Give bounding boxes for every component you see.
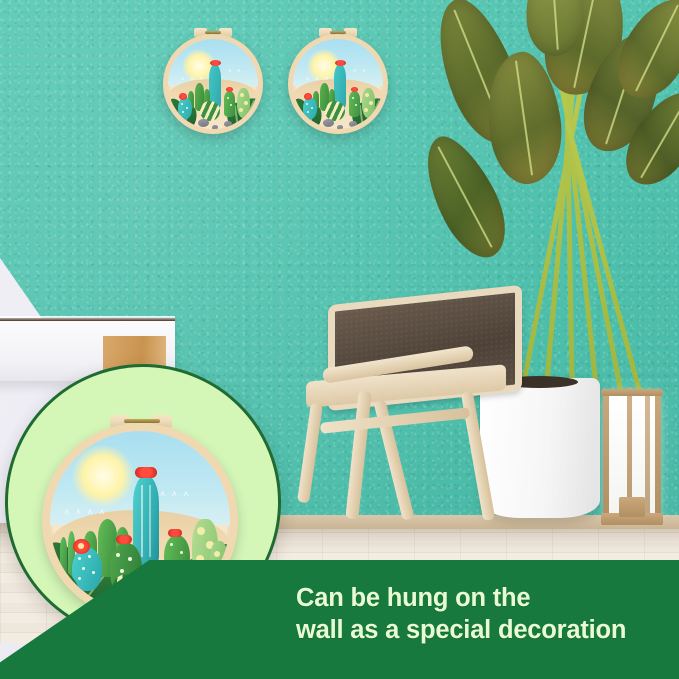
lounge-chair	[300, 295, 560, 535]
artwork-flower	[226, 87, 233, 92]
lantern-base-block	[619, 497, 645, 517]
artwork-striped-cactus	[325, 101, 345, 121]
artwork-birds: ˄ ˄	[353, 69, 368, 75]
floor-lantern	[601, 385, 663, 525]
artwork-dot	[128, 557, 132, 561]
artwork-cactus	[224, 91, 235, 117]
artwork-dot	[116, 553, 120, 557]
artwork-dot	[78, 577, 81, 580]
artwork-flower	[351, 87, 358, 92]
artwork-bud	[365, 93, 369, 97]
artwork-dot	[120, 569, 124, 573]
artwork-dot	[92, 571, 95, 574]
promo-text-line-1: Can be hung on the	[296, 582, 669, 614]
artwork-barrel-cactus	[178, 97, 192, 119]
artwork-dot	[78, 557, 81, 560]
lantern-frame	[603, 391, 609, 519]
hoop-artwork: ˄ ˄ ˄ ˄ ˄	[163, 34, 263, 134]
artwork-dot	[306, 103, 308, 105]
artwork-striped-cactus	[200, 101, 220, 121]
artwork-dot	[186, 107, 188, 109]
artwork-birds: ˄ ˄ ˄	[306, 77, 330, 83]
artwork-dot	[180, 551, 183, 554]
chair-stretcher	[320, 407, 470, 434]
artwork-barrel-cactus	[303, 97, 317, 119]
hoop-artwork: ˄ ˄ ˄ ˄ ˄	[288, 34, 388, 134]
artwork-birds: ˄ ˄ ˄	[181, 77, 205, 83]
artwork-rock	[212, 125, 218, 130]
artwork-dot	[230, 104, 232, 106]
artwork-flower	[335, 60, 346, 66]
artwork-dot	[352, 97, 354, 99]
artwork-dot	[307, 111, 309, 113]
artwork-dot	[182, 111, 184, 113]
artwork-flower	[304, 93, 312, 100]
lantern-frame-top	[601, 389, 663, 396]
artwork-bud	[244, 101, 248, 105]
artwork-flower	[210, 60, 221, 66]
artwork-bud	[239, 108, 243, 112]
artwork-bud	[369, 101, 373, 105]
cactus-rib	[149, 485, 151, 557]
artwork-dot	[82, 567, 85, 570]
artwork-bud	[197, 527, 205, 535]
artwork-flower	[135, 467, 157, 478]
artwork-bud-cactus	[362, 88, 375, 118]
wall-hoop-left[interactable]: ˄ ˄ ˄ ˄ ˄	[163, 34, 263, 134]
artwork-flower-center	[78, 543, 84, 549]
artwork-birds: ˄ ˄ ˄ ˄	[64, 507, 107, 517]
artwork-dot	[227, 97, 229, 99]
artwork-rock	[337, 125, 343, 130]
cactus-rib	[141, 485, 143, 557]
sideboard-top-highlight	[0, 316, 175, 321]
product-image: ˄ ˄ ˄ ˄ ˄	[0, 0, 679, 679]
artwork-dot	[355, 104, 357, 106]
promo-text: Can be hung on the wall as a special dec…	[296, 582, 669, 646]
artwork-bud-cactus	[237, 88, 250, 118]
artwork-bud	[240, 93, 244, 97]
artwork-flower	[179, 93, 187, 100]
wall-hoop-right[interactable]: ˄ ˄ ˄ ˄ ˄	[288, 34, 388, 134]
artwork-flower	[168, 529, 182, 537]
artwork-flower	[116, 535, 132, 544]
artwork-birds: ˄ ˄ ˄	[160, 489, 191, 499]
promo-text-line-2: wall as a special decoration	[296, 614, 669, 646]
artwork-cactus	[349, 91, 360, 117]
artwork-bud	[364, 108, 368, 112]
artwork-sun	[72, 445, 134, 507]
artwork-dot	[311, 107, 313, 109]
artwork-dot	[170, 543, 173, 546]
chair-leg	[345, 391, 371, 520]
artwork-birds: ˄ ˄	[228, 69, 243, 75]
chair-leg	[297, 403, 323, 504]
lantern-frame	[655, 391, 661, 519]
artwork-dot	[88, 555, 91, 558]
artwork-dot	[181, 103, 183, 105]
lantern-frame	[645, 391, 650, 519]
artwork-bud	[214, 551, 220, 557]
